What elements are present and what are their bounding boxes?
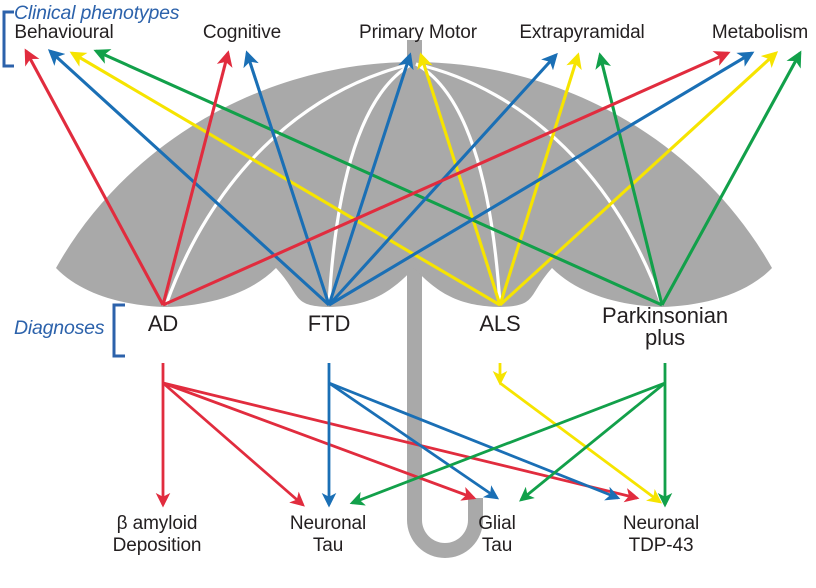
arrow-ftd-primary-motor [329,55,410,305]
arrow-pkp-behavioural [96,51,662,305]
phenotype-label-behavioural: Behavioural [0,22,128,43]
arrow-pkp-neuronal-tau [352,383,665,503]
arrow-ad-metabolism [163,53,728,305]
diagnosis-label-parkinsonian-plus: Parkinsonian plus [583,305,747,349]
upper-arrows [26,51,800,305]
arrow-pkp-extrapyramidal [600,55,662,305]
lower-arrows [163,363,665,505]
als-pathology-arrows [500,363,660,502]
arrow-ad-cognitive [163,53,228,305]
arrow-ad-glial-tau [163,383,474,498]
arrow-pkp-metabolism [662,53,800,305]
pathology-label-beta-amyloid: β amyloid Deposition [80,513,234,557]
phenotype-label-extrapyramidal: Extrapyramidal [506,22,658,43]
pathology-label-glial-tau: Glial Tau [425,513,569,557]
pathology-label-neuronal-tau: Neuronal Tau [253,513,403,557]
figure-canvas: Clinical phenotypes Diagnoses Behavioura… [0,0,816,588]
arrow-layer [0,0,816,588]
diagnoses-title: Diagnoses [14,317,104,340]
arrow-als-primary-motor [421,55,500,305]
arrow-ad-behavioural [26,51,163,305]
phenotype-label-metabolism: Metabolism [700,22,816,43]
als-phenotype-arrows [72,53,776,305]
phenotype-label-primary-motor: Primary Motor [343,22,493,43]
pathology-label-neuronal-tdp43: Neuronal TDP-43 [584,513,738,557]
arrow-pkp-glial-tau [521,383,665,500]
diagnosis-label-ftd: FTD [279,313,379,334]
pkp-pathology-arrows [352,363,665,505]
diagnosis-label-als: ALS [450,313,550,334]
diagnosis-label-ad: AD [113,313,213,334]
arrow-ad-neuronal-tdp43 [163,383,637,498]
phenotype-label-cognitive: Cognitive [182,22,302,43]
